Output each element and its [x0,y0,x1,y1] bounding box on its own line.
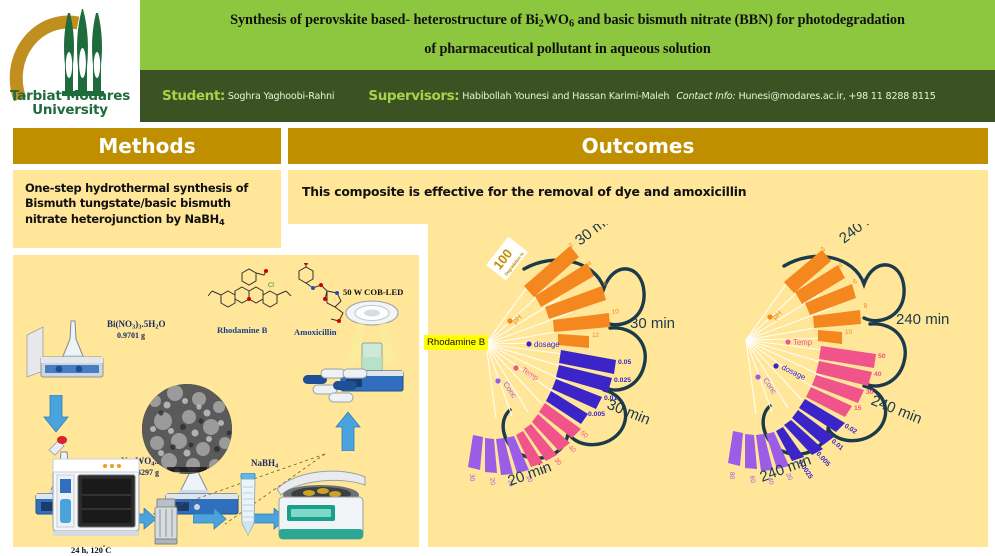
outcomes-summary-panel: This composite is effective for the remo… [288,170,988,224]
group-label-temp: Temp [520,365,540,382]
group-dot-temp [513,365,518,370]
chart-rhodamine-b: pH dosage Temp Conc 2 4 8 10 12 0.05 0.0… [428,224,708,547]
cat-conc-60: 60 [748,475,756,484]
student-name: Soghra Yaghoobi-Rahni [228,91,335,102]
radial-chart-2-svg: pH Temp dosage Conc 3 4 6 8 10 50 40 30 [718,224,988,547]
methods-summary-main: One-step hydrothermal synthesis of Bismu… [25,181,248,226]
annotation-min-3: 240 min [869,392,925,428]
r1-d: O [158,319,165,329]
down-arrow-icon [43,395,69,433]
group-label-conc: Conc [501,380,518,400]
group-dot-conc [495,378,500,383]
r1-c: .5H [141,319,155,329]
cat-temp-50: 50 [579,430,589,440]
r1-a: Bi(NO [107,319,132,329]
cat-temp-15: 15 [854,405,862,412]
cat-temp-40: 40 [567,444,577,454]
group-label-dosage: dosage [534,340,560,349]
cat-ph-12: 12 [592,332,600,339]
annotation-min-2: 240 min [896,311,949,328]
oven-cond-a: 24 h, 120 [71,546,103,555]
group-label-temp: Temp [793,338,813,347]
methods-summary-text: One-step hydrothermal synthesis of Bismu… [25,181,269,228]
contact-label: Contact Info: [676,91,735,102]
ultrasonic-bath-icon [25,313,117,383]
chart-amoxicillin: pH Temp dosage Conc 3 4 6 8 10 50 40 30 [718,224,988,547]
group-dot-temp [785,339,790,344]
page-title-line-1: Synthesis of perovskite based- heterostr… [230,12,905,30]
cat-ph-10: 10 [845,329,853,336]
lamp-label: 50 W COB-LED [343,287,403,297]
cat-conc-30: 30 [468,474,475,482]
annotation-min-3: 30 min [605,396,653,429]
logo-text: Tarbiat Modares University [6,90,134,117]
cat-temp-30: 30 [552,457,562,467]
cat-ph-10: 10 [611,308,619,316]
cat-temp-40: 40 [874,371,882,378]
centrifuge-icon [271,467,371,547]
cat-dos-0005: 0.005 [815,451,832,468]
cat-temp-50: 50 [878,353,886,360]
supervisors-label: Supervisors: [368,88,459,104]
annotation-min-1: 240 min [836,224,889,247]
cat-conc-80: 80 [728,472,735,480]
rhodamine-b-structure-icon: Cl [208,265,294,327]
university-logo: Tarbiat Modares University [0,0,140,122]
title-part-c: and basic bismuth nitrate (BBN) for phot… [574,12,905,28]
cat-conc-20: 20 [488,477,496,486]
cat-ph-6: 6 [852,278,858,286]
poster-title-bar: Synthesis of perovskite based- heterostr… [140,0,995,70]
cat-ph-8: 8 [863,302,868,310]
reagent-1-formula: Bi(NO3)3.5H2O [107,319,166,331]
group-dot-conc [755,374,760,379]
methods-figure-panel: Bi(NO3)3.5H2O 0.9701 g Na2WO4.2H2O 0.329… [13,255,419,547]
cat-dos-0025: 0.025 [614,377,631,384]
group-label-ph: pH [770,308,783,321]
cat-dos-0005: 0.005 [588,411,605,418]
outcomes-section-title: Outcomes [582,134,695,158]
cat-dos-002: 0.02 [843,423,858,436]
supervisors-names: Habibollah Younesi and Hassan Karimi-Mal… [462,91,669,102]
annotation-min-2: 30 min [630,315,675,332]
centrifuge-tube-icon [237,473,259,539]
title-part-b: WO [544,12,569,28]
page-title-line-2: of pharmaceutical pollutant in aqueous s… [424,41,710,57]
poster-root: Tarbiat Modares University Synthesis of … [0,0,995,556]
autoclave-icon [149,497,183,547]
outcomes-section-header: Outcomes [288,128,988,164]
svg-text:Cl: Cl [268,282,274,289]
oven-condition-label: 24 h, 120°C [71,545,111,555]
contact-value: Hunesi@modares.ac.ir, +98 11 8288 8115 [738,91,935,102]
methods-summary-sub: 4 [219,217,224,227]
sample-vials-icon [299,355,373,405]
student-label: Student: [162,88,225,104]
right-arrow-icon [193,508,227,530]
logo-line-2: University [6,104,134,118]
outcomes-figure-panel: pH dosage Temp Conc 2 4 8 10 12 0.05 0.0… [428,224,988,547]
cat-dos-005: 0.05 [618,359,631,366]
radial-chart-1-svg: pH dosage Temp Conc 2 4 8 10 12 0.05 0.0… [428,224,708,547]
molecule-1-label: Rhodamine B [217,325,267,335]
outcomes-summary-text: This composite is effective for the remo… [302,184,988,199]
title-part-a: Synthesis of perovskite based- heterostr… [230,12,539,28]
group-dot-dosage [526,341,531,346]
analyte-label-rhodamine-b: Rhodamine B [424,335,488,350]
group-dot-dosage [773,363,778,368]
up-arrow-icon [335,411,361,451]
annotation-min-1: 30 min [572,224,618,249]
drying-oven-icon [51,455,147,543]
group-label-ph: pH [510,312,523,325]
oven-cond-b: C [105,546,111,555]
group-label-dosage: dosage [780,363,807,382]
authors-bar: Student: Soghra Yaghoobi-Rahni Superviso… [140,70,995,122]
reagent-1-mass: 0.9701 g [117,331,145,340]
methods-summary-panel: One-step hydrothermal synthesis of Bismu… [13,170,281,248]
methods-section-title: Methods [98,134,195,158]
methods-section-header: Methods [13,128,281,164]
group-label-conc: Conc [761,376,778,396]
